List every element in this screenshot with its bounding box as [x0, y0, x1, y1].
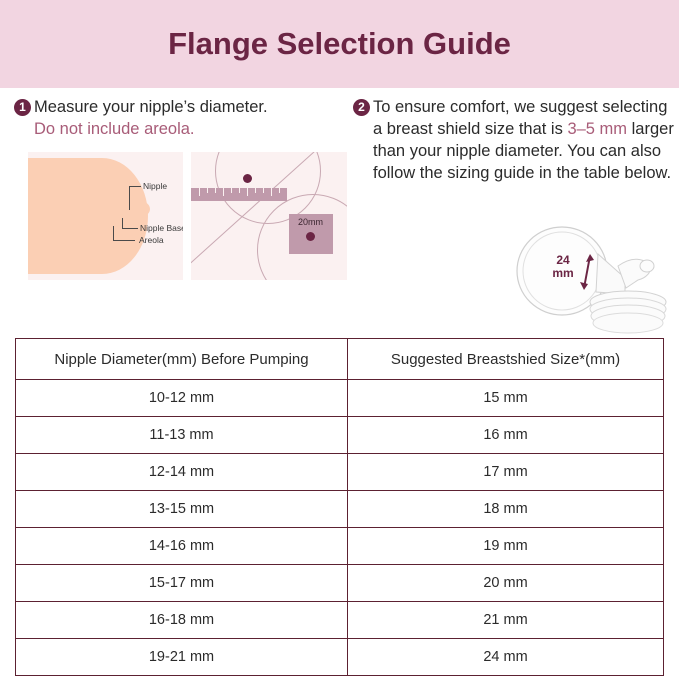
cell-nipple-diameter: 19-21 mm	[16, 639, 348, 676]
cell-suggested-size: 21 mm	[348, 602, 664, 639]
cell-suggested-size: 15 mm	[348, 380, 664, 417]
header-banner: Flange Selection Guide	[0, 0, 679, 88]
nipple-leader-horizontal	[129, 186, 141, 187]
measurement-box: 20mm	[289, 214, 333, 254]
label-nipple-base: Nipple Base	[140, 223, 183, 233]
areola-leader-horizontal	[113, 240, 135, 241]
measuring-illustration: 20mm	[191, 152, 347, 280]
step-1-text: Measure your nipple’s diameter.	[34, 96, 268, 118]
step-1-number-badge: 1	[14, 99, 31, 116]
cell-suggested-size: 18 mm	[348, 491, 664, 528]
cell-nipple-diameter: 11-13 mm	[16, 417, 348, 454]
nipple-base-leader-horizontal	[122, 228, 138, 229]
page-title: Flange Selection Guide	[168, 26, 511, 62]
flange-size-label: 24 mm	[544, 254, 582, 280]
measurement-box-label: 20mm	[298, 217, 323, 228]
cell-nipple-diameter: 10-12 mm	[16, 380, 348, 417]
areola-leader-vertical	[113, 226, 114, 240]
nipple-base-leader-vertical	[122, 218, 123, 228]
table-row: 16-18 mm21 mm	[16, 602, 664, 639]
table-row: 11-13 mm16 mm	[16, 417, 664, 454]
label-areola: Areola	[139, 235, 164, 245]
label-nipple: Nipple	[143, 181, 167, 191]
cell-nipple-diameter: 14-16 mm	[16, 528, 348, 565]
flange-size-unit: mm	[552, 266, 573, 280]
cell-suggested-size: 16 mm	[348, 417, 664, 454]
cell-nipple-diameter: 13-15 mm	[16, 491, 348, 528]
cell-nipple-diameter: 12-14 mm	[16, 454, 348, 491]
table-row: 14-16 mm19 mm	[16, 528, 664, 565]
column-header-suggested-size: Suggested Breastshied Size*(mm)	[348, 339, 664, 380]
cell-nipple-diameter: 16-18 mm	[16, 602, 348, 639]
illustrations-row: Nipple Nipple Base Areola	[28, 152, 347, 280]
anatomy-illustration: Nipple Nipple Base Areola	[28, 152, 183, 280]
breast-shield-svg	[500, 226, 676, 336]
nipple-leader-vertical	[129, 186, 130, 210]
step-1: 1 Measure your nipple’s diameter.	[14, 96, 347, 118]
cell-suggested-size: 20 mm	[348, 565, 664, 602]
nipple-dot-top	[243, 174, 252, 183]
step-2: 2 To ensure comfort, we suggest selectin…	[353, 96, 679, 184]
ruler-icon	[191, 188, 287, 201]
column-header-nipple-diameter: Nipple Diameter(mm) Before Pumping	[16, 339, 348, 380]
sizing-table: Nipple Diameter(mm) Before Pumping Sugge…	[15, 338, 664, 676]
step-2-text: To ensure comfort, we suggest selecting …	[373, 96, 679, 184]
step-1-subtext: Do not include areola.	[34, 118, 347, 140]
step-2-number-badge: 2	[353, 99, 370, 116]
breast-shield-illustration: 24 mm	[500, 226, 676, 336]
cell-nipple-diameter: 15-17 mm	[16, 565, 348, 602]
nipple-bump	[124, 200, 150, 218]
cell-suggested-size: 17 mm	[348, 454, 664, 491]
table-body: 10-12 mm15 mm11-13 mm16 mm12-14 mm17 mm1…	[16, 380, 664, 676]
cell-suggested-size: 19 mm	[348, 528, 664, 565]
table-row: 15-17 mm20 mm	[16, 565, 664, 602]
step-2-highlight: 3–5 mm	[567, 120, 627, 138]
table-row: 13-15 mm18 mm	[16, 491, 664, 528]
table-row: 19-21 mm24 mm	[16, 639, 664, 676]
nipple-dot-bottom	[306, 232, 315, 241]
table-row: 10-12 mm15 mm	[16, 380, 664, 417]
table-row: 12-14 mm17 mm	[16, 454, 664, 491]
cell-suggested-size: 24 mm	[348, 639, 664, 676]
step-1-column: 1 Measure your nipple’s diameter. Do not…	[0, 96, 347, 280]
flange-size-value: 24	[556, 253, 569, 267]
table-header-row: Nipple Diameter(mm) Before Pumping Sugge…	[16, 339, 664, 380]
